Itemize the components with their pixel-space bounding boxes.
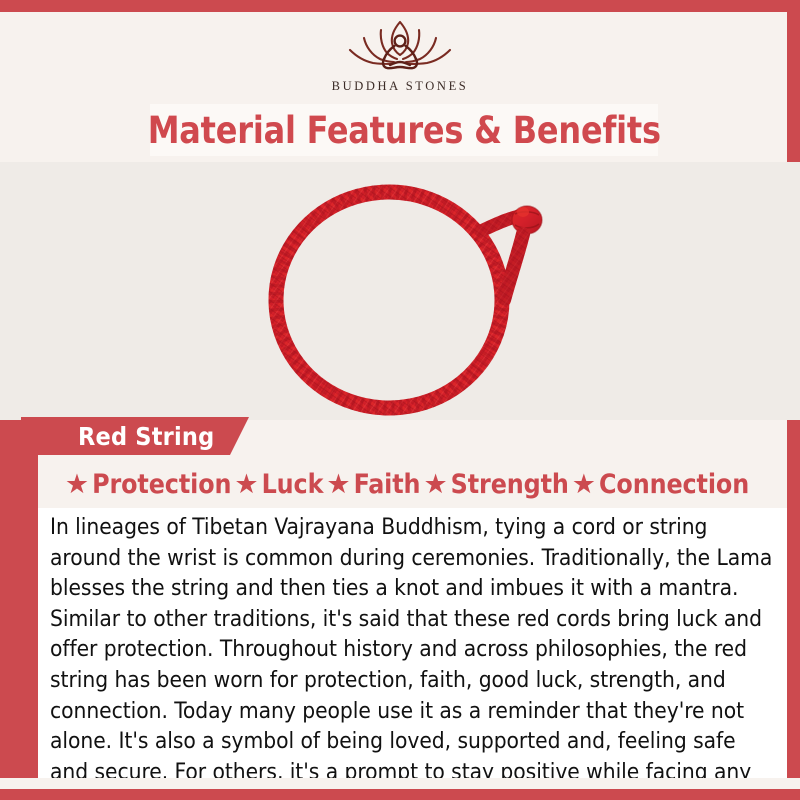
benefit-label-connection: Connection <box>599 469 749 500</box>
benefits-row: ★ Protection ★ Luck ★ Faith ★ Strength ★… <box>38 462 776 506</box>
star-icon: ★ <box>65 471 89 498</box>
benefit-item-strength: ★ Strength <box>423 469 568 500</box>
product-label-banner: Red String <box>21 417 249 455</box>
product-label: Red String <box>78 422 214 451</box>
star-icon: ★ <box>423 471 447 498</box>
brand-wordmark: BUDDHA STONES <box>332 79 469 94</box>
benefit-label-luck: Luck <box>262 469 324 500</box>
product-photo-panel <box>0 162 800 420</box>
frame-top-bar <box>0 0 800 12</box>
star-icon: ★ <box>326 471 350 498</box>
infographic-root: BUDDHA STONES Material Features & Benefi… <box>0 0 800 800</box>
description-panel: In lineages of Tibetan Vajrayana Buddhis… <box>38 508 787 780</box>
brand-header: BUDDHA STONES <box>0 12 800 104</box>
lotus-meditation-icon <box>334 16 466 78</box>
page-title: Material Features & Benefits <box>147 109 660 152</box>
star-icon: ★ <box>234 471 258 498</box>
benefit-label-faith: Faith <box>354 469 421 500</box>
benefit-item-connection: ★ Connection <box>572 469 749 500</box>
benefit-label-strength: Strength <box>451 469 569 500</box>
benefit-item-protection: ★ Protection <box>65 469 231 500</box>
benefit-item-faith: ★ Faith <box>326 469 420 500</box>
frame-bottom-edge <box>0 789 800 800</box>
red-braided-cord-bracelet-image <box>238 162 568 420</box>
star-icon: ★ <box>572 471 596 498</box>
title-band: Material Features & Benefits <box>150 104 658 156</box>
benefit-item-luck: ★ Luck <box>234 469 323 500</box>
benefit-label-protection: Protection <box>92 469 231 500</box>
description-body: In lineages of Tibetan Vajrayana Buddhis… <box>38 512 787 800</box>
